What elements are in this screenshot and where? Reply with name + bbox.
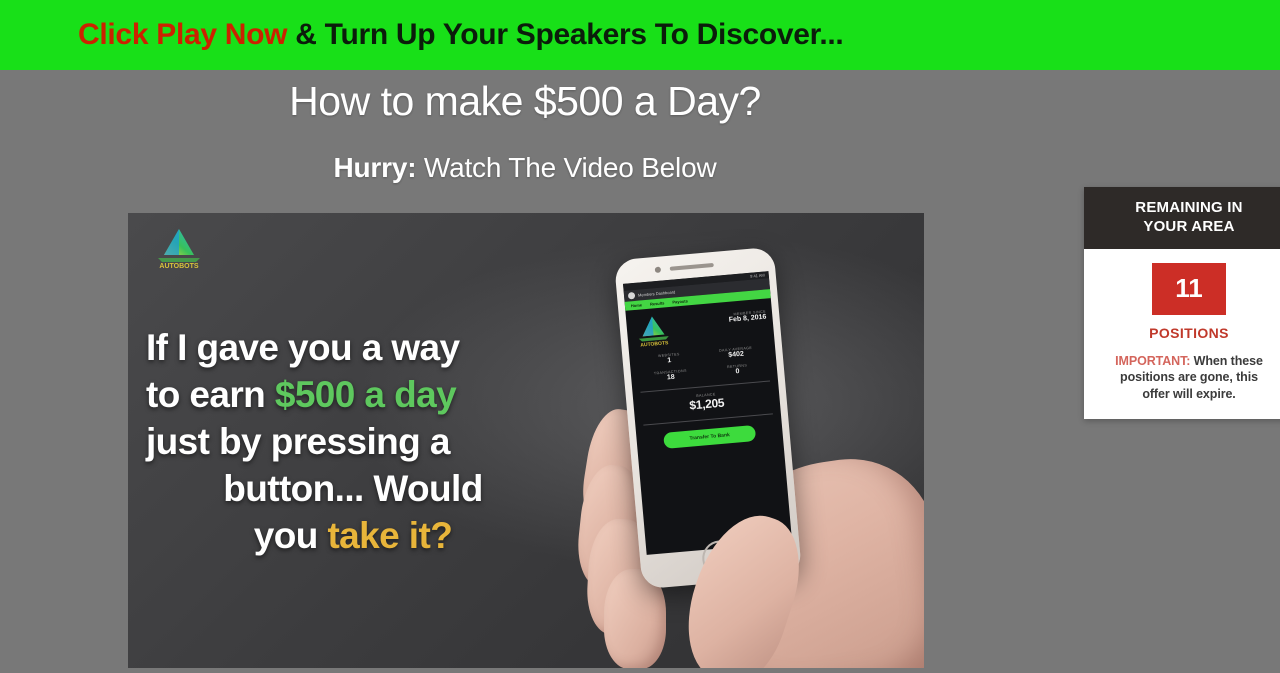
phone-transfer-to-bank-button: Transfer To Bank (663, 425, 756, 449)
remaining-positions-header: REMAINING IN YOUR AREA (1084, 187, 1280, 249)
page-stage: How to make $500 a Day? Hurry: Watch The… (0, 70, 1280, 673)
important-line-2: positions are gone, this (1094, 369, 1280, 386)
phone-dashboard: AUTOBOTS MEMBER SINCE Feb 8, 2016 WEBSIT… (625, 298, 783, 456)
phone-earpiece (670, 263, 714, 271)
phone-stats-grid: WEBSITES 1 DAILY AVERAGE $402 TRANSACTIO… (635, 344, 771, 384)
svg-text:AUTOBOTS: AUTOBOTS (640, 340, 669, 348)
caption-highlight-takeit: take it? (327, 515, 452, 556)
phone-tab-results: Results (650, 300, 665, 306)
svg-text:AUTOBOTS: AUTOBOTS (159, 263, 198, 270)
important-line-1-rest: When these (1190, 354, 1263, 368)
caption-line-1: If I gave you a way (146, 325, 566, 372)
phone-tab-home: Home (631, 302, 643, 308)
phone-stat-daily-average: DAILY AVERAGE $402 (702, 344, 770, 361)
phone-front-camera-icon (655, 267, 662, 274)
hand-holding-phone: 9:41 AM Members Dashboard Home Results P… (558, 213, 924, 668)
phone-stat-transactions: TRANSACTIONS 18 (637, 367, 705, 384)
caption-highlight-amount: $500 a day (275, 374, 456, 415)
phone-member-since: MEMBER SINCE Feb 8, 2016 (728, 304, 767, 324)
subtitle-rest: Watch The Video Below (416, 152, 716, 183)
remaining-positions-card: REMAINING IN YOUR AREA 11 POSITIONS IMPO… (1084, 187, 1280, 419)
caption-line-3: just by pressing a (146, 419, 566, 466)
autobots-pyramid-logo-icon: AUTOBOTS (150, 225, 208, 271)
important-keyword: IMPORTANT: (1115, 354, 1190, 368)
announcement-accent-text: Click Play Now (78, 18, 287, 51)
caption-line-2: to earn $500 a day (146, 372, 566, 419)
caption-line-5-plain: you (254, 515, 328, 556)
video-caption: If I gave you a way to earn $500 a day j… (146, 325, 566, 560)
caption-line-2-plain: to earn (146, 374, 275, 415)
page-subtitle: Hurry: Watch The Video Below (0, 152, 1050, 184)
phone-tab-payouts: Payouts (672, 298, 688, 304)
phone-brand-logo-icon: AUTOBOTS (632, 312, 675, 349)
caption-line-4: button... Would (146, 466, 566, 513)
caption-line-5: you take it? (146, 513, 566, 560)
announcement-text: Click Play Now & Turn Up Your Speakers T… (0, 20, 843, 50)
phone-divider-bottom (643, 413, 773, 425)
phone-stat-returns: RETURNS 0 (704, 361, 772, 378)
phone-nav-title: Members Dashboard (638, 289, 676, 297)
positions-label: POSITIONS (1094, 325, 1280, 341)
phone-dashboard-header: AUTOBOTS MEMBER SINCE Feb 8, 2016 (632, 304, 768, 350)
phone-balance: BALANCE $1,205 (639, 387, 774, 417)
announcement-rest-text: & Turn Up Your Speakers To Discover... (287, 18, 843, 51)
phone-screen: 9:41 AM Members Dashboard Home Results P… (623, 271, 792, 555)
phone-stat-websites: WEBSITES 1 (635, 350, 703, 367)
subtitle-bold: Hurry: (334, 152, 417, 183)
announcement-bar: Click Play Now & Turn Up Your Speakers T… (0, 0, 1280, 70)
video-player[interactable]: AUTOBOTS If I gave you a way to earn $50… (128, 213, 924, 668)
page-title: How to make $500 a Day? (0, 78, 1050, 125)
important-notice: IMPORTANT: When these positions are gone… (1094, 353, 1280, 404)
remaining-header-line-1: REMAINING IN (1094, 199, 1280, 218)
remaining-header-line-2: YOUR AREA (1094, 218, 1280, 237)
remaining-positions-body: 11 POSITIONS IMPORTANT: When these posit… (1084, 249, 1280, 420)
avatar (628, 292, 636, 300)
positions-count-badge: 11 (1152, 263, 1226, 315)
important-line-3: offer will expire. (1094, 386, 1280, 403)
